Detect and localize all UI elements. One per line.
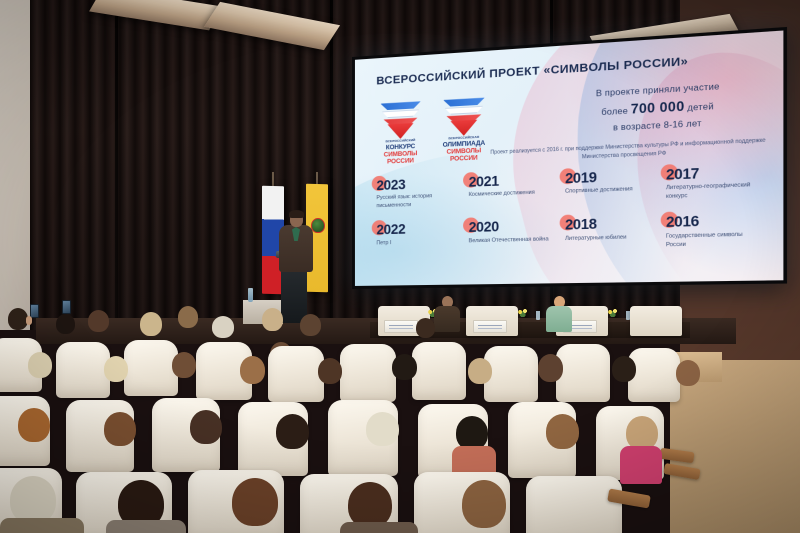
audience-head [56, 314, 75, 334]
year-theme: Литературные юбилеи [565, 233, 654, 244]
audience-torso [340, 522, 418, 533]
auditorium-seat [628, 348, 680, 402]
year-entry: 2016 Государственные символы России [661, 212, 767, 250]
auditorium-seat [484, 346, 538, 402]
stats-suffix: детей [685, 102, 714, 113]
logo-red-text-2: РОССИИ [374, 156, 426, 165]
year-theme: Спортивные достижения [565, 186, 654, 197]
audience-head [546, 414, 579, 449]
audience-head [456, 416, 488, 450]
year-theme: Литературно-географический конкурс [666, 182, 759, 202]
smartphone [30, 304, 39, 318]
auditorium-seat [268, 346, 324, 402]
audience-head [104, 356, 128, 382]
auditorium-seat [526, 476, 622, 533]
project-logos: ВСЕРОССИЙСКИЙ КОНКУРС СИМВОЛЫ РОССИИ ВСЕ… [374, 97, 491, 166]
projection-screen: ВСЕРОССИЙСКИЙ ПРОЕКТ «СИМВОЛЫ РОССИИ» В … [352, 27, 787, 289]
audience-head [28, 352, 52, 378]
logo-konkurs: ВСЕРОССИЙСКИЙ КОНКУРС СИМВОЛЫ РОССИИ [374, 101, 426, 166]
audience-torso [106, 520, 186, 533]
audience-head [88, 310, 109, 332]
year-theme-grid: 2023 Русский язык: история письменности … [372, 164, 766, 257]
audience-torso [620, 446, 662, 484]
audience-head [468, 358, 492, 384]
smartphone [62, 300, 71, 314]
year-entry: 2020 Великая Отечественная война [464, 218, 560, 254]
audience-head [612, 356, 636, 382]
audience-head [178, 306, 198, 328]
audience-head [462, 480, 506, 528]
audience-head [676, 360, 700, 386]
logo-olimpiada: ВСЕРОССИЙСКАЯ ОЛИМПИАДА СИМВОЛЫ РОССИИ [437, 97, 491, 163]
audience-head [416, 318, 435, 338]
slide-title: ВСЕРОССИЙСКИЙ ПРОЕКТ «СИМВОЛЫ РОССИИ» [376, 55, 688, 87]
slide-footnote: Проект реализуется с 2016 г. при поддерж… [483, 136, 774, 166]
auditorium-seat [340, 344, 396, 402]
audience-head [240, 356, 265, 384]
audience-head [18, 408, 50, 442]
audience-head [626, 416, 658, 450]
year-number: 2023 [376, 175, 464, 192]
year-number: 2021 [469, 172, 561, 189]
audience-head [172, 352, 196, 378]
audience-head [140, 312, 162, 336]
auditorium-seat [124, 340, 178, 396]
year-theme: Петр I [376, 238, 457, 248]
audience-head [232, 478, 278, 526]
year-theme: Государственные символы России [666, 231, 759, 250]
audience-head [212, 316, 234, 338]
audience-head [318, 358, 342, 384]
year-entry: 2023 Русский язык: история письменности [372, 175, 464, 211]
auditorium-seat [556, 344, 610, 402]
year-theme: Космические достижения [469, 189, 554, 200]
audience-head [366, 412, 399, 446]
audience-head [10, 476, 56, 524]
audience-torso [0, 518, 84, 533]
audience-head [190, 410, 222, 444]
year-number: 2018 [565, 215, 661, 232]
year-entry: 2019 Спортивные достижения [561, 168, 662, 206]
year-entry: 2022 Петр I [372, 221, 464, 256]
year-number: 2017 [666, 164, 767, 182]
audience-head [262, 308, 283, 331]
year-entry: 2017 Литературно-географический конкурс [661, 164, 767, 203]
stats-prefix: более [601, 106, 630, 117]
year-theme: Русский язык: история письменности [376, 193, 457, 212]
year-number: 2022 [376, 221, 464, 237]
participation-stats: В проекте приняли участие более 700 000 … [546, 78, 774, 135]
year-theme: Великая Отечественная война [469, 236, 554, 246]
stats-number: 700 000 [631, 99, 685, 117]
audience-head [104, 412, 136, 446]
conference-hall-photo: ВСЕРОССИЙСКИЙ ПРОЕКТ «СИМВОЛЫ РОССИИ» В … [0, 0, 800, 533]
audience-head [300, 314, 321, 336]
year-entry: 2018 Литературные юбилеи [561, 215, 662, 252]
flag-book-icon [437, 97, 491, 137]
audience-head [8, 308, 28, 330]
audience-head [538, 354, 563, 382]
auditorium-seat [56, 342, 110, 398]
year-number: 2016 [666, 212, 767, 229]
auditorium-seat [412, 342, 466, 400]
audience-head [276, 414, 309, 449]
speaker-at-podium [274, 212, 318, 272]
year-entry: 2021 Космические достижения [464, 172, 560, 209]
hand [26, 316, 32, 325]
year-number: 2020 [469, 218, 561, 234]
year-number: 2019 [565, 168, 661, 186]
flag-book-icon [374, 101, 426, 140]
audience-area [0, 300, 800, 533]
audience-head [392, 354, 417, 380]
